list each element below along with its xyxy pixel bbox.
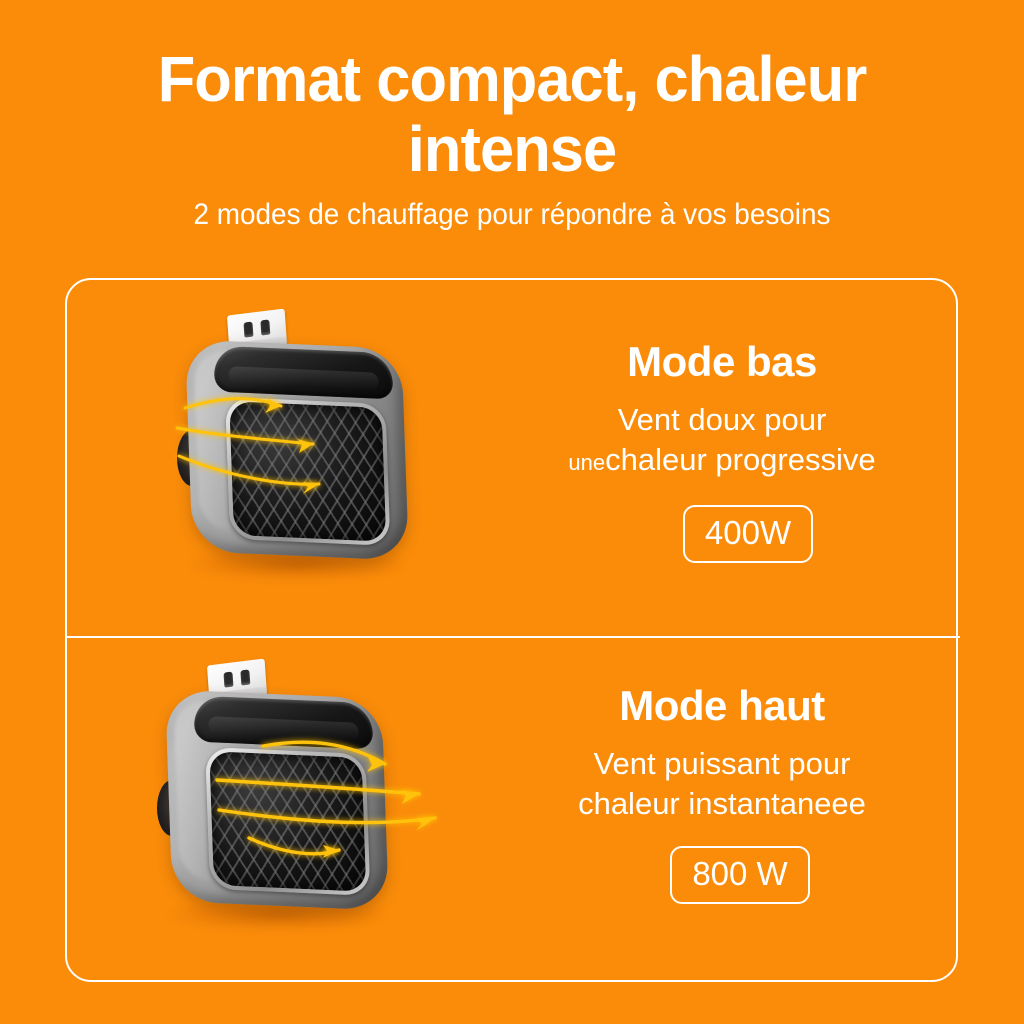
- badge-wrap-low: 400W: [512, 483, 932, 563]
- grille-bezel: [225, 397, 390, 546]
- mode-text-high: Mode haut Vent puissant pour chaleur ins…: [512, 682, 932, 904]
- prong-right: [240, 669, 250, 685]
- mode-text-low: Mode bas Vent doux pour unechaleur progr…: [512, 338, 932, 563]
- power-badge-high: 800 W: [670, 846, 809, 904]
- mode-description-low-line1: Vent doux pour: [512, 400, 932, 440]
- device-stage-low: [67, 280, 537, 636]
- top-cap-sheen: [228, 366, 379, 391]
- device-body: [185, 339, 409, 560]
- header: Format compact, chaleur intense 2 modes …: [0, 44, 1024, 232]
- mode-description-low: Vent doux pour unechaleur progressive: [512, 400, 932, 483]
- heater-device-high: [155, 660, 405, 940]
- device-stage-high: [67, 638, 537, 994]
- device-top-cap: [193, 696, 373, 750]
- grille-bezel: [205, 747, 370, 896]
- mode-description-high: Vent puissant pour chaleur instantaneee: [512, 744, 932, 824]
- page-subtitle: 2 modes de chauffage pour répondre à vos…: [36, 198, 988, 232]
- mode-description-low-small-word: une: [568, 450, 605, 475]
- mode-description-high-line1: Vent puissant pour: [512, 744, 932, 784]
- mode-description-low-line2-wrap: unechaleur progressive: [512, 440, 932, 483]
- page-title: Format compact, chaleur intense: [20, 44, 1003, 184]
- heater-device-low: [175, 310, 425, 590]
- device-top-cap: [213, 346, 393, 400]
- device-body: [165, 689, 389, 910]
- badge-wrap-high: 800 W: [512, 824, 932, 904]
- mode-description-high-line2: chaleur instantaneee: [512, 784, 932, 824]
- modes-card: Mode bas Vent doux pour unechaleur progr…: [65, 278, 958, 982]
- power-badge-low: 400W: [683, 505, 813, 563]
- mode-row-low: Mode bas Vent doux pour unechaleur progr…: [67, 280, 960, 636]
- prong-left: [243, 321, 253, 337]
- mode-description-low-line2: chaleur progressive: [605, 442, 876, 477]
- infographic-page: Format compact, chaleur intense 2 modes …: [0, 0, 1024, 1024]
- prong-right: [260, 319, 270, 335]
- prong-left: [223, 671, 233, 687]
- mode-row-high: Mode haut Vent puissant pour chaleur ins…: [67, 638, 960, 994]
- mesh-grille-icon: [209, 751, 366, 892]
- top-cap-sheen: [208, 716, 359, 741]
- mesh-grille-icon: [229, 401, 386, 542]
- mode-title-low: Mode bas: [512, 338, 932, 386]
- mode-title-high: Mode haut: [512, 682, 932, 730]
